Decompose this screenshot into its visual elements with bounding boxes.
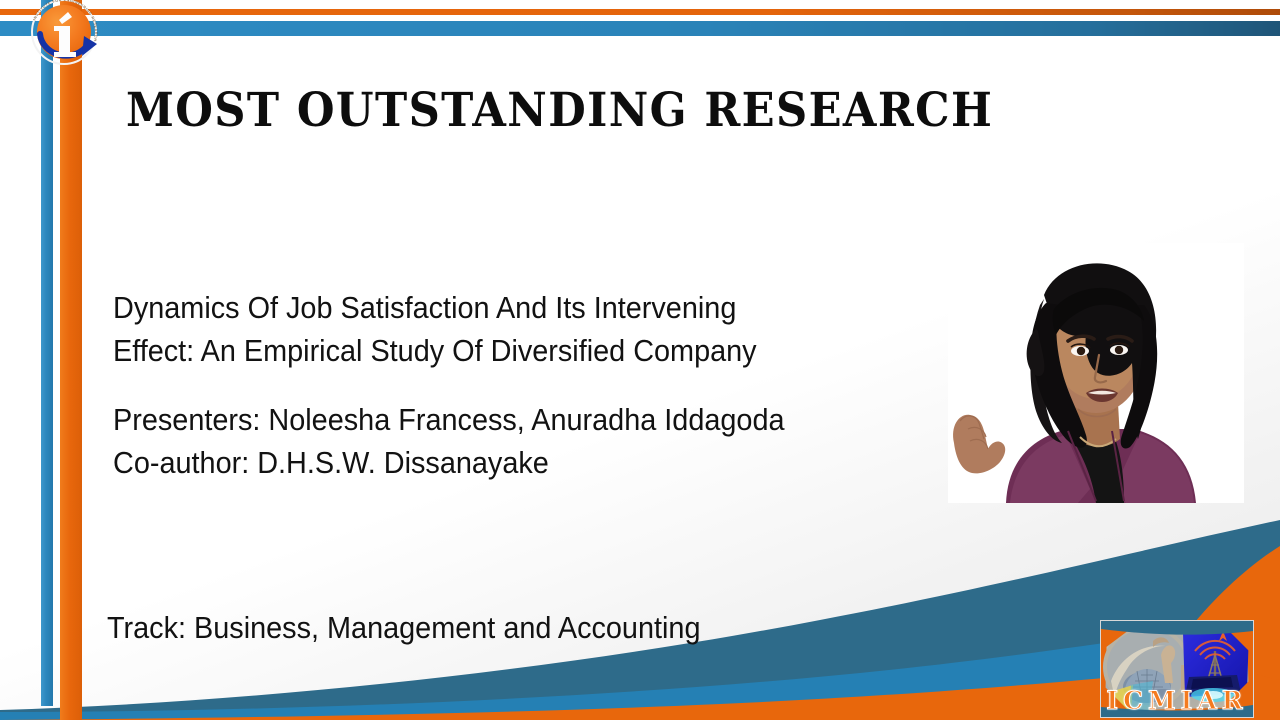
icmiar-logo-text: ICMIAR: [1101, 686, 1253, 715]
institute-logo-icon: INSTITUTE FOR ENGINEERING RESEARCH: [26, 0, 102, 70]
top-orange-band: [0, 9, 1280, 15]
presenter-photo: [948, 243, 1244, 503]
track-line: Track: Business, Management and Accounti…: [107, 610, 700, 646]
paper-info-block: Dynamics Of Job Satisfaction And Its Int…: [113, 286, 933, 484]
text-spacer: [113, 372, 933, 398]
presenters-line: Presenters: Noleesha Francess, Anuradha …: [113, 398, 876, 441]
left-orange-vertical-bar: [60, 0, 82, 720]
paper-title-line-2: Effect: An Empirical Study Of Diversifie…: [113, 329, 876, 372]
coauthor-line: Co-author: D.H.S.W. Dissanayake: [113, 441, 876, 484]
icmiar-logo: ICMIAR: [1100, 620, 1254, 718]
slide-title: MOST OUTSTANDING RESEARCH: [126, 83, 993, 138]
top-blue-band: [0, 21, 1280, 36]
paper-title-line-1: Dynamics Of Job Satisfaction And Its Int…: [113, 286, 876, 329]
presentation-slide: INSTITUTE FOR ENGINEERING RESEARCH MOST …: [0, 0, 1280, 720]
